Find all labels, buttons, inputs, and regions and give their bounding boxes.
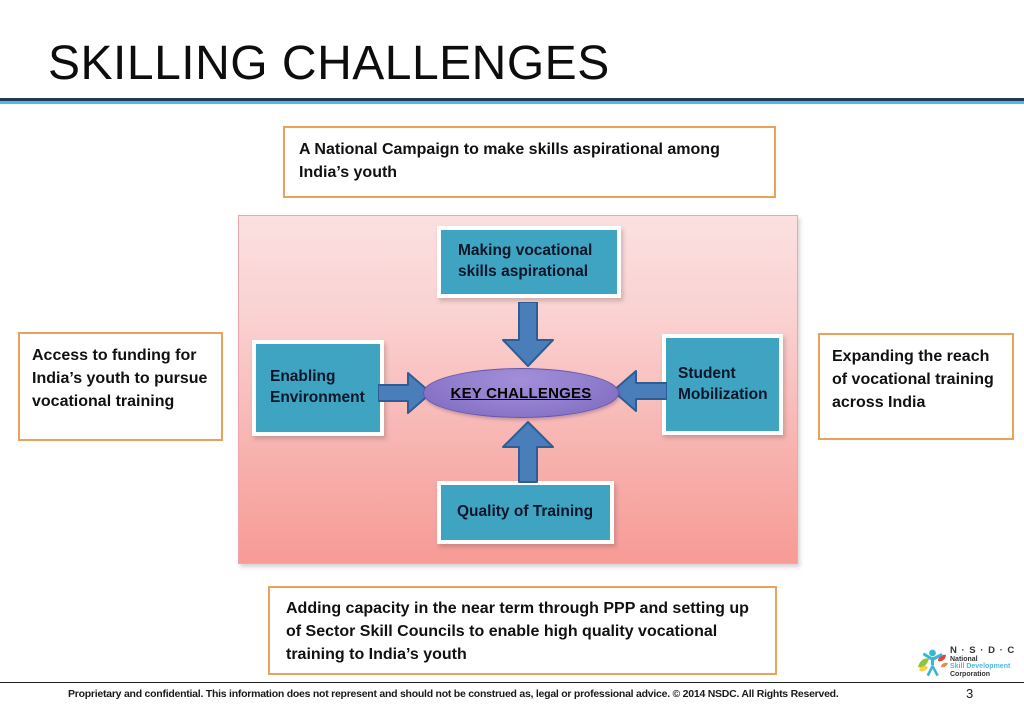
diagram-center-ellipse: KEY CHALLENGES [423,368,619,418]
nsdc-initials: N · S · D · C [950,646,1020,656]
page-number: 3 [966,686,973,701]
arrow-up-icon [497,421,559,483]
title-divider [0,98,1024,104]
page-title: SKILLING CHALLENGES [48,38,610,91]
nsdc-figure-icon [916,645,950,679]
nsdc-line-national: National [950,656,1020,663]
diagram-node-bottom: Quality of Training [437,481,614,544]
callout-bottom: Adding capacity in the near term through… [268,586,777,675]
nsdc-logo: N · S · D · C National Skill Development… [916,645,1020,681]
slide-canvas: SKILLING CHALLENGES A National Campaign … [0,0,1024,709]
diagram-center-label: KEY CHALLENGES [451,385,592,402]
footer-divider [0,682,1024,683]
callout-left: Access to funding for India’s youth to p… [18,332,223,441]
diagram-node-right: Student Mobilization [662,334,783,435]
arrow-left-icon [611,370,667,412]
nsdc-wordmark: N · S · D · C National Skill Development… [950,646,1020,678]
nsdc-line-skill-development: Skill Development [950,663,1020,670]
footer-disclaimer: Proprietary and confidential. This infor… [68,688,898,700]
arrow-down-icon [497,302,559,368]
nsdc-line-corporation: Corporation [950,671,1020,678]
title-divider-light-line [0,101,1024,104]
diagram-node-top: Making vocational skills aspirational [437,226,621,298]
callout-top: A National Campaign to make skills aspir… [283,126,776,198]
diagram-node-left: Enabling Environment [252,340,384,436]
callout-right: Expanding the reach of vocational traini… [818,333,1014,440]
